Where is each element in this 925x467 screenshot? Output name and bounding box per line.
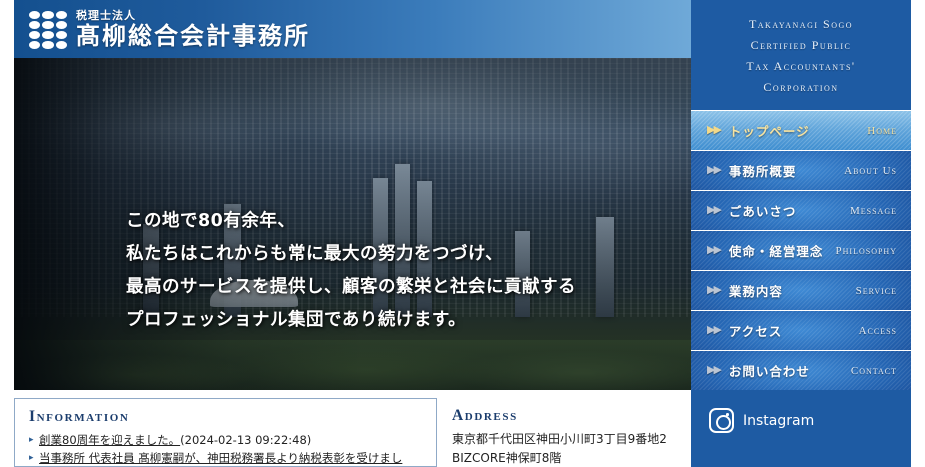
sidebar-item-home[interactable]: ▶▶ トップページ Home	[691, 110, 911, 150]
sidebar: Takayanagi Sogo Certified Public Tax Acc…	[691, 0, 911, 467]
sidebar-heading: Takayanagi Sogo Certified Public Tax Acc…	[691, 0, 911, 110]
hero-line-2: 私たちはこれからも常に最大の努力をつづけ、	[126, 238, 576, 271]
address-section: Address 東京都千代田区神田小川町3丁目9番地2 BIZCORE神保町8階	[437, 398, 691, 467]
information-date-1: (2024-02-13 09:22:48)	[180, 433, 311, 447]
sidebar-item-philosophy[interactable]: ▶▶ 使命・経営理念 Philosophy	[691, 230, 911, 270]
site-header: 税理士法人 髙柳総合会計事務所	[14, 0, 691, 58]
logo-company-name: 髙柳総合会計事務所	[76, 24, 310, 48]
sidebar-item-service[interactable]: ▶▶ 業務内容 Service	[691, 270, 911, 310]
sidebar-item-contact[interactable]: ▶▶ お問い合わせ Contact	[691, 350, 911, 390]
double-arrow-icon: ▶▶	[707, 325, 720, 336]
address-line-2: BIZCORE神保町8階	[452, 449, 681, 467]
information-link-1[interactable]: 創業80周年を迎えました。	[39, 433, 180, 447]
sidebar-item-access[interactable]: ▶▶ アクセス Access	[691, 310, 911, 350]
sidebar-item-label-en: Philosophy	[836, 245, 897, 257]
address-line-1: 東京都千代田区神田小川町3丁目9番地2	[452, 430, 681, 449]
double-arrow-icon: ▶▶	[707, 245, 720, 256]
information-title: Information	[29, 408, 424, 426]
double-arrow-icon: ▶▶	[707, 285, 720, 296]
double-arrow-icon: ▶▶	[707, 165, 720, 176]
hero-copy: この地で80有余年、 私たちはこれからも常に最大の努力をつづけ、 最高のサービス…	[126, 205, 576, 337]
double-arrow-icon: ▶▶	[707, 365, 720, 376]
sidebar-item-label-ja: ごあいさつ	[729, 201, 797, 220]
site-logo[interactable]: 税理士法人 髙柳総合会計事務所	[29, 9, 310, 49]
address-title: Address	[452, 407, 681, 425]
instagram-icon	[709, 408, 734, 433]
main-column: 税理士法人 髙柳総合会計事務所	[14, 0, 691, 467]
address-lines: 東京都千代田区神田小川町3丁目9番地2 BIZCORE神保町8階	[452, 430, 681, 467]
information-list: 創業80周年を迎えました。(2024-02-13 09:22:48) 当事務所 …	[29, 431, 424, 467]
instagram-label: Instagram	[743, 413, 814, 429]
sidebar-nav: ▶▶ トップページ Home ▶▶ 事務所概要 About Us ▶▶ ごあいさ…	[691, 110, 911, 390]
sidebar-item-label-ja: 事務所概要	[729, 161, 797, 180]
list-item[interactable]: 創業80周年を迎えました。(2024-02-13 09:22:48)	[29, 431, 424, 449]
instagram-link[interactable]: Instagram	[691, 390, 911, 433]
sidebar-item-label-ja: アクセス	[729, 321, 782, 340]
hero-line-4: プロフェッショナル集団であり続けます。	[126, 304, 576, 337]
page-root: 税理士法人 髙柳総合会計事務所	[0, 0, 925, 467]
sidebar-item-about-us[interactable]: ▶▶ 事務所概要 About Us	[691, 150, 911, 190]
logo-kicker: 税理士法人	[76, 10, 310, 21]
grid-dots-logo-icon	[29, 11, 67, 49]
sidebar-item-label-ja: 使命・経営理念	[729, 241, 824, 260]
sidebar-heading-line-1: Takayanagi Sogo	[701, 14, 901, 35]
sidebar-item-label-ja: 業務内容	[729, 281, 783, 300]
sidebar-item-label-en: Message	[850, 205, 897, 217]
hero-line-3: 最高のサービスを提供し、顧客の繁栄と社会に貢献する	[126, 271, 576, 304]
sidebar-item-label-en: Access	[859, 325, 897, 337]
sidebar-heading-line-2: Certified Public	[701, 35, 901, 56]
sidebar-heading-line-3: Tax Accountants'	[701, 56, 901, 77]
logo-text: 税理士法人 髙柳総合会計事務所	[76, 9, 310, 48]
sidebar-item-label-ja: トップページ	[729, 121, 810, 140]
double-arrow-icon: ▶▶	[707, 205, 720, 216]
double-arrow-icon: ▶▶	[707, 125, 720, 136]
sidebar-item-label-en: Service	[856, 285, 897, 297]
sidebar-item-label-en: About Us	[844, 165, 897, 177]
sidebar-item-label-en: Contact	[851, 365, 897, 377]
sidebar-item-label-en: Home	[867, 125, 897, 137]
sidebar-heading-line-4: Corporation	[701, 77, 901, 98]
content-row: Information 創業80周年を迎えました。(2024-02-13 09:…	[14, 390, 691, 467]
information-link-2[interactable]: 当事務所 代表社員 髙柳憲嗣が、神田税務署長より納税表彰を受けまし	[39, 451, 402, 465]
sidebar-item-message[interactable]: ▶▶ ごあいさつ Message	[691, 190, 911, 230]
hero-line-1: この地で80有余年、	[126, 205, 576, 238]
sidebar-item-label-ja: お問い合わせ	[729, 361, 810, 380]
hero-banner: この地で80有余年、 私たちはこれからも常に最大の努力をつづけ、 最高のサービス…	[14, 58, 691, 390]
information-section: Information 創業80周年を迎えました。(2024-02-13 09:…	[14, 398, 437, 467]
list-item[interactable]: 当事務所 代表社員 髙柳憲嗣が、神田税務署長より納税表彰を受けまし	[29, 449, 424, 467]
